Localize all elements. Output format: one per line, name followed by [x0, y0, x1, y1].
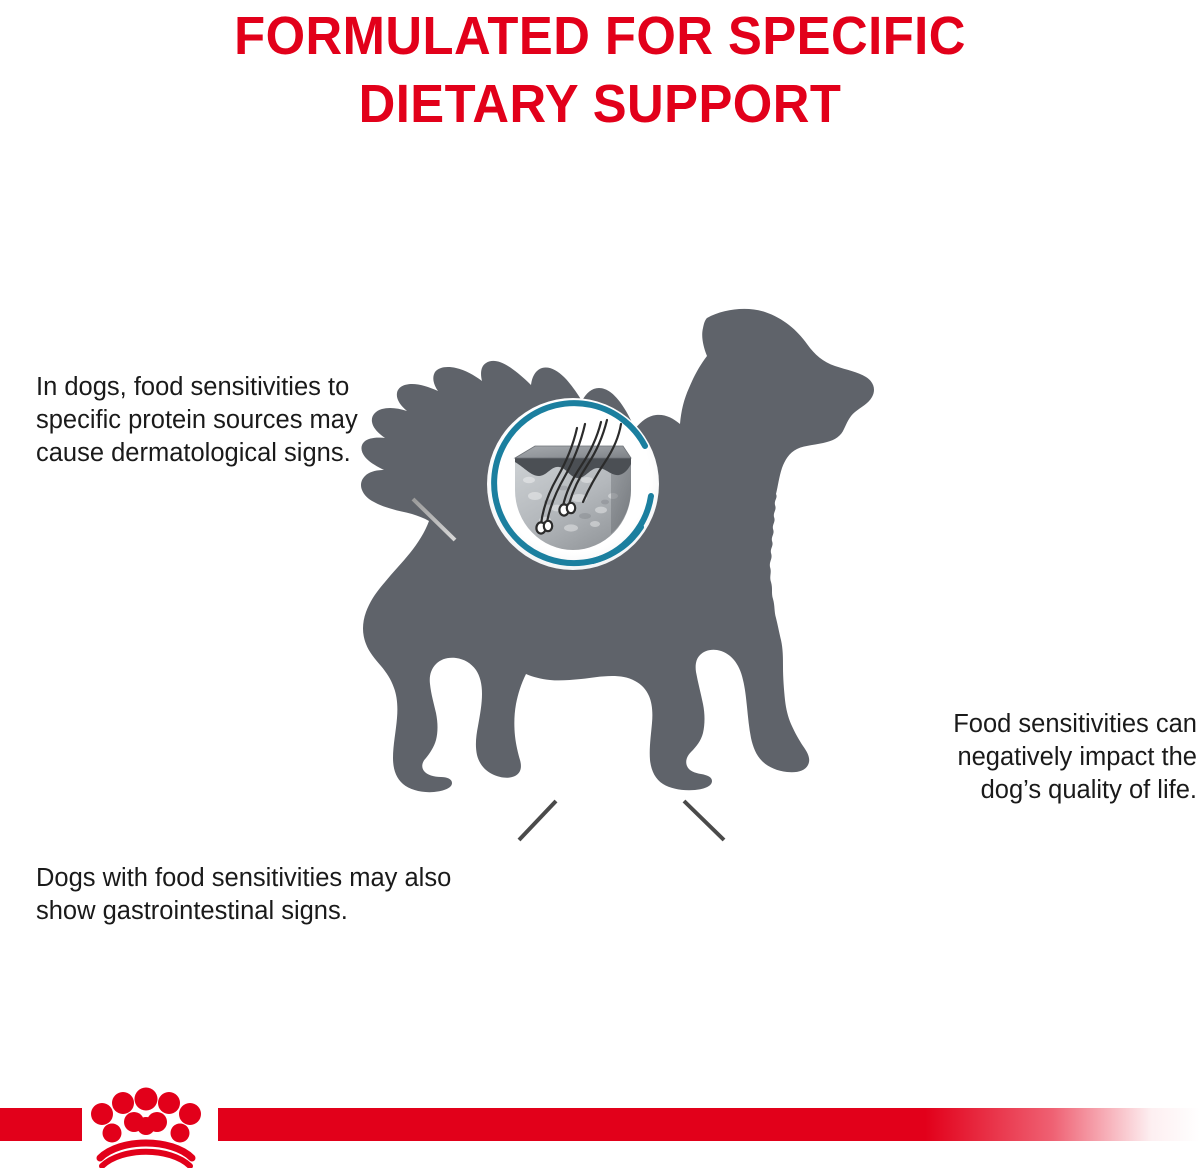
- callout-dermatological: In dogs, food sensitivities to specific …: [36, 371, 486, 470]
- callout-gastrointestinal: Dogs with food sensitivities may also sh…: [36, 862, 616, 928]
- crown-logo-arcs: [100, 1143, 192, 1166]
- callout-quality-of-life: Food sensitivities can negatively impact…: [767, 708, 1197, 807]
- royal-canin-crown-logo: [80, 1086, 212, 1168]
- leader-line-dermatological: [0, 480, 480, 560]
- leader-line-gastrointestinal: [0, 790, 580, 854]
- infographic-page: FORMULATED FOR SPECIFIC DIETARY SUPPORT: [0, 0, 1200, 1168]
- brand-bar-left-segment: [0, 1108, 82, 1141]
- skin-hair-follicle-badge: [473, 384, 673, 584]
- page-title: FORMULATED FOR SPECIFIC DIETARY SUPPORT: [36, 2, 1164, 138]
- crown-logo-icon: [91, 1088, 201, 1143]
- brand-bar-right-segment: [218, 1108, 1200, 1141]
